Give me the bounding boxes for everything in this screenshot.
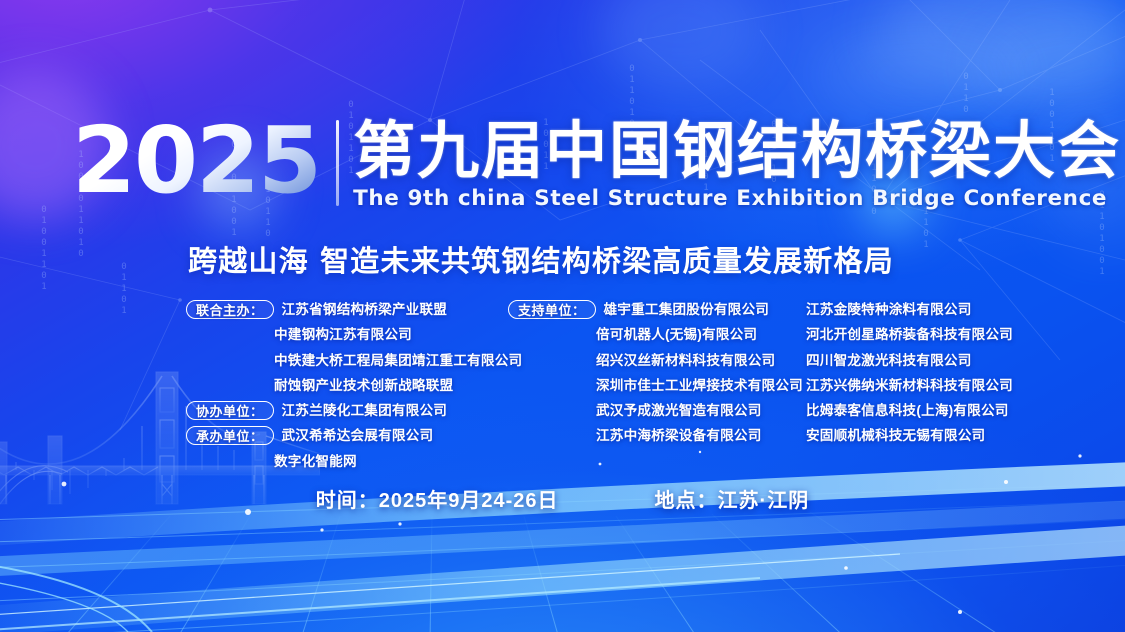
org-name: 比姆泰客信息科技(上海)有限公司 [806,400,1009,422]
org-name: 江苏金陵特种涂料有限公司 [806,299,972,321]
org-label-pill: 支持单位： [508,300,596,319]
org-name: 倍可机器人(无锡)有限公司 [596,324,757,346]
org-name: 江苏兴佛纳米新材料科技有限公司 [806,375,1013,397]
org-group-row: 河北开创星路桥装备科技有限公司 [806,324,1106,348]
title-row: 2025 第九届中国钢结构桥梁大会 The 9th china Steel St… [72,118,1121,212]
org-name: 河北开创星路桥装备科技有限公司 [806,324,1013,346]
page-title-english: The 9th china Steel Structure Exhibition… [353,186,1121,212]
org-group-row: 绍兴汉丝新材料科技有限公司 [508,350,808,374]
organizations-right-column: 江苏金陵特种涂料有限公司 河北开创星路桥装备科技有限公司 四川智龙激光科技有限公… [806,299,1106,451]
org-name: 数字化智能网 [274,451,357,473]
org-group-row: 四川智龙激光科技有限公司 [806,350,1106,374]
org-group-row: 安固顺机械科技无锡有限公司 [806,425,1106,449]
event-time: 时间：2025年9月24-26日 [316,484,559,513]
org-name: 武汉希希达会展有限公司 [282,425,434,447]
org-name: 江苏兰陵化工集团有限公司 [282,400,448,422]
event-details: 时间：2025年9月24-26日 地点：江苏·江阴 [0,484,1125,513]
org-name: 江苏省钢结构桥梁产业联盟 [282,299,448,321]
org-name: 安固顺机械科技无锡有限公司 [806,425,985,447]
org-group-row: 耐蚀钢产业技术创新战略联盟 [186,375,516,399]
title-divider [336,120,339,206]
org-name: 绍兴汉丝新材料科技有限公司 [596,350,775,372]
organizations-section: 联合主办：江苏省钢结构桥梁产业联盟 中建钢构江苏有限公司 中铁建大桥工程局集团靖… [0,299,1125,449]
org-group-row: 支持单位：雄宇重工集团股份有限公司 [508,299,808,323]
org-label-pill: 承办单位： [186,426,274,445]
org-label-pill: 联合主办： [186,300,274,319]
org-group-row: 承办单位：武汉希希达会展有限公司 [186,425,516,449]
event-location: 地点：江苏·江阴 [655,484,810,513]
org-group-row: 深圳市佳士工业焊接技术有限公司 [508,375,808,399]
org-group-row: 武汉予成激光智造有限公司 [508,400,808,424]
year-2025: 2025 [72,118,336,204]
org-group-row: 江苏金陵特种涂料有限公司 [806,299,1106,323]
org-name: 深圳市佳士工业焊接技术有限公司 [596,375,803,397]
org-group-row: 江苏中海桥梁设备有限公司 [508,425,808,449]
page-title-chinese: 第九届中国钢结构桥梁大会 [353,118,1121,184]
org-group-row: 协办单位：江苏兰陵化工集团有限公司 [186,400,516,424]
org-group-row: 江苏兴佛纳米新材料科技有限公司 [806,375,1106,399]
org-name: 雄宇重工集团股份有限公司 [604,299,770,321]
org-group-row: 联合主办：江苏省钢结构桥梁产业联盟 [186,299,516,323]
org-group-row: 中铁建大桥工程局集团靖江重工有限公司 [186,350,516,374]
org-name: 四川智龙激光科技有限公司 [806,350,972,372]
org-name: 耐蚀钢产业技术创新战略联盟 [274,375,453,397]
org-group-row: 数字化智能网 [186,451,516,475]
org-label-pill: 协办单位： [186,401,274,420]
org-name: 江苏中海桥梁设备有限公司 [596,425,762,447]
org-group-row: 中建钢构江苏有限公司 [186,324,516,348]
organizations-left-column: 联合主办：江苏省钢结构桥梁产业联盟 中建钢构江苏有限公司 中铁建大桥工程局集团靖… [186,299,516,476]
slogan: 跨越山海 智造未来共筑钢结构桥梁高质量发展新格局 [188,238,988,280]
organizations-middle-column: 支持单位：雄宇重工集团股份有限公司 倍可机器人(无锡)有限公司 绍兴汉丝新材料科… [508,299,808,451]
org-name: 中建钢构江苏有限公司 [274,324,412,346]
org-group-row: 比姆泰客信息科技(上海)有限公司 [806,400,1106,424]
org-name: 中铁建大桥工程局集团靖江重工有限公司 [274,350,522,372]
org-name: 武汉予成激光智造有限公司 [596,400,762,422]
org-group-row: 倍可机器人(无锡)有限公司 [508,324,808,348]
conference-banner: 01001101 1001011010 01101 010011001 1011… [0,0,1125,632]
